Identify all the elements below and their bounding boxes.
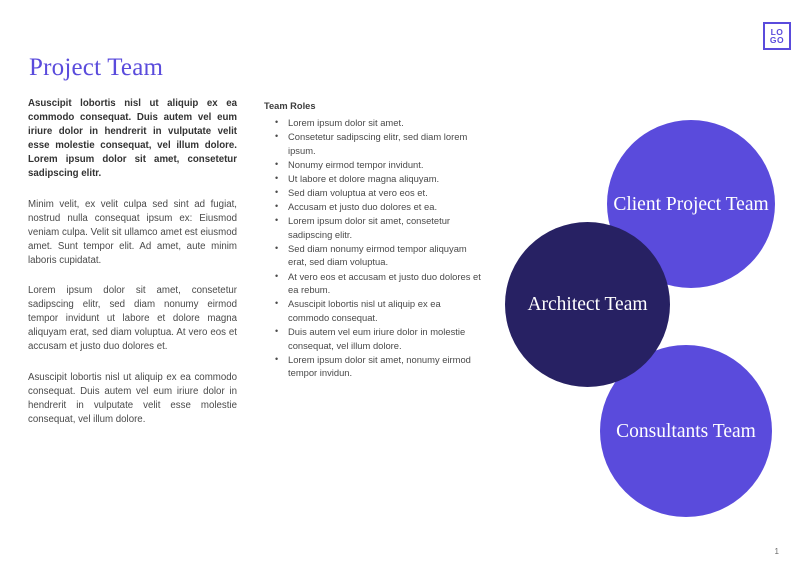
page-title: Project Team (29, 54, 163, 82)
list-item: Accusam et justo duo dolores et ea. (288, 200, 482, 214)
slide-canvas: LO GO Project Team Asuscipit lobortis ni… (0, 0, 812, 575)
team-roles-column: Team Roles Lorem ipsum dolor sit amet. C… (264, 101, 482, 380)
logo-icon: LO GO (763, 22, 791, 50)
list-item: Asuscipit lobortis nisl ut aliquip ex ea… (288, 297, 482, 324)
body-paragraph-3: Lorem ipsum dolor sit amet, consetetur s… (28, 284, 237, 354)
team-roles-list: Lorem ipsum dolor sit amet. Consetetur s… (264, 116, 482, 380)
list-item: Lorem ipsum dolor sit amet. (288, 116, 482, 130)
logo-line-2: GO (770, 36, 784, 45)
list-item: Duis autem vel eum iriure dolor in moles… (288, 325, 482, 352)
list-item: Sed diam voluptua at vero eos et. (288, 186, 482, 200)
diagram-circle-architect-team: Architect Team (505, 222, 670, 387)
team-roles-heading: Team Roles (264, 101, 482, 111)
left-text-column: Asuscipit lobortis nisl ut aliquip ex ea… (28, 97, 237, 427)
page-number: 1 (775, 547, 779, 556)
body-paragraph-4: Asuscipit lobortis nisl ut aliquip ex ea… (28, 371, 237, 427)
list-item: At vero eos et accusam et justo duo dolo… (288, 270, 482, 297)
list-item: Lorem ipsum dolor sit amet, consetetur s… (288, 214, 482, 241)
body-paragraph-2: Minim velit, ex velit culpa sed sint ad … (28, 198, 237, 268)
body-paragraph-1: Asuscipit lobortis nisl ut aliquip ex ea… (28, 97, 237, 182)
list-item: Lorem ipsum dolor sit amet, nonumy eirmo… (288, 353, 482, 380)
list-item: Sed diam nonumy eirmod tempor aliquyam e… (288, 242, 482, 269)
list-item: Consetetur sadipscing elitr, sed diam lo… (288, 130, 482, 157)
list-item: Nonumy eirmod tempor invidunt. (288, 158, 482, 172)
list-item: Ut labore et dolore magna aliquyam. (288, 172, 482, 186)
